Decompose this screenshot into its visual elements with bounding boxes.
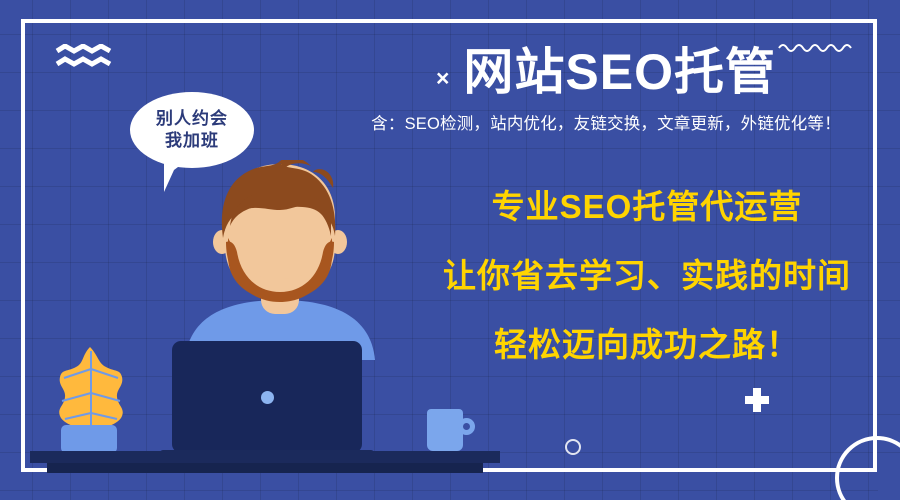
page-subtitle: 含：SEO检测，站内优化，友链交换，文章更新，外链优化等！ [330,110,882,134]
speech-bubble: 别人约会 我加班 [130,92,254,168]
speech-bubble-line-2: 我加班 [165,130,219,152]
laptop-logo-icon [261,391,274,404]
slogan-line-1: 专业SEO托管代运营 [408,190,886,223]
title-row: × 网站SEO托管 [330,44,882,100]
close-x-icon: × [436,67,449,90]
seo-promo-banner: 别人约会 我加班 × 网站SEO托管 含：SEO检测，站内优化，友链交换，文章更… [0,0,900,500]
header-block: × 网站SEO托管 含：SEO检测，站内优化，友链交换，文章更新，外链优化等！ [330,44,882,134]
slogan-line-2: 让你省去学习、实践的时间 [408,259,886,292]
page-title: 网站SEO托管 [463,44,776,100]
coffee-mug-icon [427,409,463,451]
potted-plant-icon [52,345,130,431]
speech-bubble-line-1: 别人约会 [156,108,228,130]
plant-pot [61,425,117,453]
desk-edge [47,463,483,473]
desk-icon [30,451,500,463]
seated-man-icon [175,160,385,360]
coffee-mug-handle [458,418,475,435]
slogan-list: 专业SEO托管代运营 让你省去学习、实践的时间 轻松迈向成功之路！ [408,190,886,361]
slogan-line-3: 轻松迈向成功之路！ [408,328,886,361]
